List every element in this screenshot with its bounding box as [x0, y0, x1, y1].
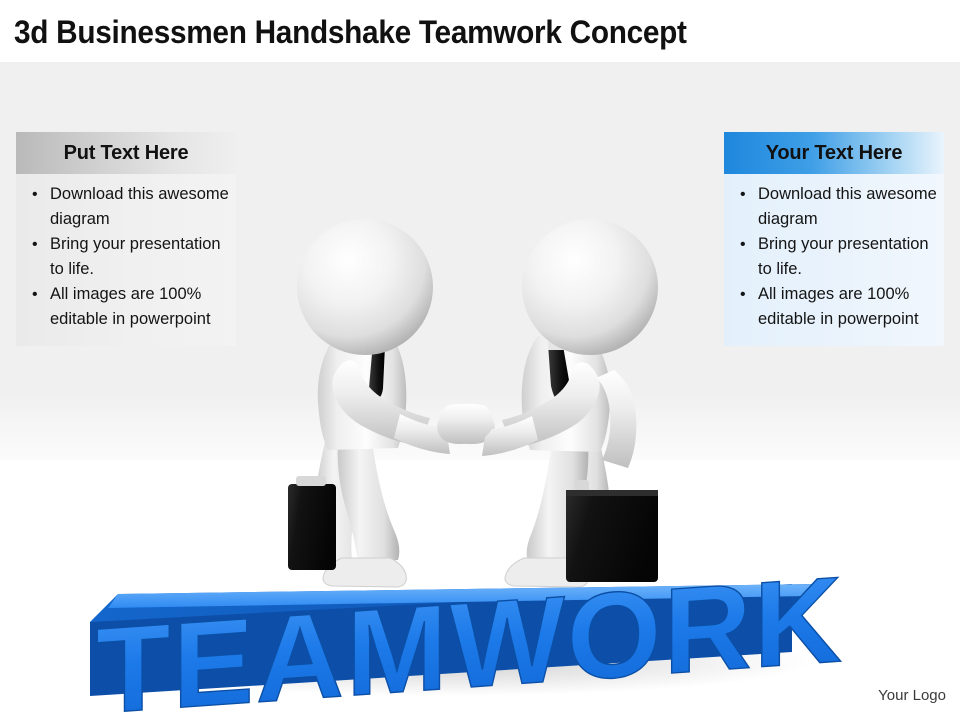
- textbox-right-header: Your Text Here: [724, 132, 944, 174]
- list-item: • Bring your presentation to life.: [728, 232, 938, 282]
- title-bar: 3d Businessmen Handshake Teamwork Concep…: [0, 0, 960, 62]
- textbox-left[interactable]: Put Text Here • Download this awesome di…: [16, 132, 236, 346]
- list-item-text: Bring your presentation to life.: [50, 235, 221, 278]
- textbox-left-header: Put Text Here: [16, 132, 236, 174]
- bullet-icon: •: [740, 182, 746, 207]
- textbox-right-body: • Download this awesome diagram • Bring …: [724, 174, 944, 346]
- bullet-icon: •: [740, 282, 746, 307]
- figure-right-neck: [548, 320, 582, 350]
- bullet-icon: •: [32, 182, 38, 207]
- list-item: • All images are 100% editable in powerp…: [728, 282, 938, 332]
- your-logo-placeholder[interactable]: Your Logo: [878, 687, 946, 704]
- list-item-text: Download this awesome diagram: [758, 185, 937, 228]
- figure-right-head: [522, 219, 658, 355]
- list-item-text: All images are 100% editable in powerpoi…: [50, 285, 211, 328]
- list-item: • Download this awesome diagram: [20, 182, 230, 232]
- textbox-right[interactable]: Your Text Here • Download this awesome d…: [724, 132, 944, 346]
- bullet-icon: •: [32, 282, 38, 307]
- list-item-text: Bring your presentation to life.: [758, 235, 929, 278]
- list-item: • Download this awesome diagram: [728, 182, 938, 232]
- list-item-text: All images are 100% editable in powerpoi…: [758, 285, 919, 328]
- slide: 3d Businessmen Handshake Teamwork Concep…: [0, 0, 960, 720]
- figure-left-head: [297, 219, 433, 355]
- bullet-icon: •: [740, 232, 746, 257]
- list-item: • Bring your presentation to life.: [20, 232, 230, 282]
- list-item-text: Download this awesome diagram: [50, 185, 229, 228]
- stage-white-area: [0, 460, 960, 720]
- textbox-left-bullet-list: • Download this awesome diagram • Bring …: [20, 182, 230, 332]
- bullet-icon: •: [32, 232, 38, 257]
- figure-left-neck: [352, 320, 386, 350]
- list-item: • All images are 100% editable in powerp…: [20, 282, 230, 332]
- textbox-left-body: • Download this awesome diagram • Bring …: [16, 174, 236, 346]
- textbox-right-bullet-list: • Download this awesome diagram • Bring …: [728, 182, 938, 332]
- page-title: 3d Businessmen Handshake Teamwork Concep…: [14, 14, 687, 51]
- slide-canvas: TEAMWORK Put Text Here • Download this a…: [0, 62, 960, 720]
